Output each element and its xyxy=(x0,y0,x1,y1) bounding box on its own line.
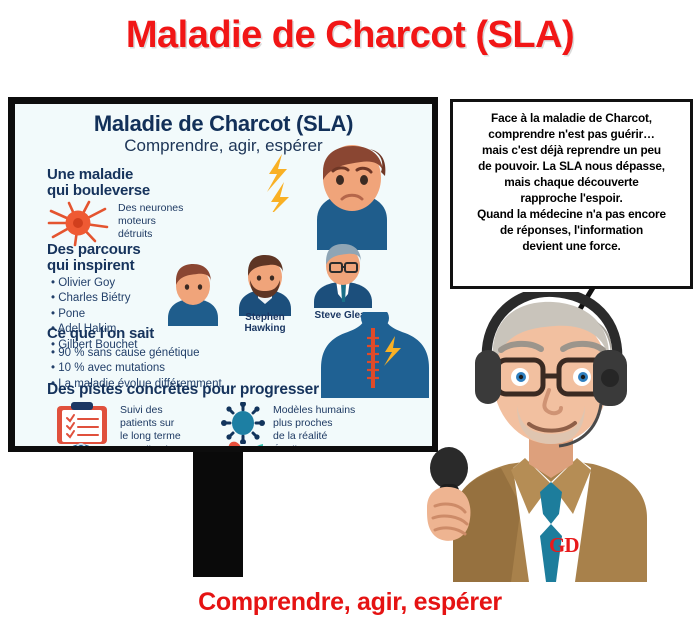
bubble-line: Quand la médecine n'a pas encore xyxy=(459,206,684,222)
clipboard-icon xyxy=(55,402,109,446)
section-4-heading: Des pistes concrètes pour progresser xyxy=(47,382,319,399)
infographic-title: Maladie de Charcot (SLA) xyxy=(15,111,432,137)
infographic-panel: Maladie de Charcot (SLA) Comprendre, agi… xyxy=(15,104,432,446)
section-2-heading: Des parcours qui inspirent xyxy=(47,242,140,274)
track-2-label: Modèles humains plus proches de la réali… xyxy=(273,404,355,442)
spine-torso-illustration xyxy=(315,312,432,402)
bubble-line: rapproche l'espoir. xyxy=(459,190,684,206)
page-title: Maladie de Charcot (SLA) xyxy=(0,14,700,57)
watermark-gd: GD xyxy=(549,533,579,558)
page-caption: Comprendre, agir, espérer xyxy=(0,588,700,617)
plant-icon xyxy=(221,440,267,446)
bubble-line: mais c'est déjà reprendre un peu xyxy=(459,142,684,158)
portrait-illustration-a xyxy=(162,262,224,326)
globe-icon xyxy=(55,442,107,446)
bubble-line: de pouvoir. La SLA nous dépasse, xyxy=(459,158,684,174)
list-item: Charles Biétry xyxy=(51,291,138,306)
neuron-icon xyxy=(45,199,111,247)
portrait-illustration-steve-gleason xyxy=(310,244,376,308)
section-1-heading: Une maladie qui bouleverse xyxy=(47,167,150,199)
virus-cell-icon xyxy=(221,402,265,444)
bubble-line: mais chaque découverte xyxy=(459,174,684,190)
bubble-line: comprendre n'est pas guérir… xyxy=(459,126,684,142)
screenshot-root: Maladie de Charcot (SLA) Maladie de Char… xyxy=(0,0,700,622)
bubble-line: Face à la maladie de Charcot, xyxy=(459,110,684,126)
track-1-label: Suivi des patients sur le long terme xyxy=(120,404,181,442)
speech-bubble: Face à la maladie de Charcot, comprendre… xyxy=(450,99,693,289)
billboard-stand xyxy=(193,452,243,577)
bubble-line: devient une force. xyxy=(459,238,684,254)
track-4-label: Étudier l'environnement xyxy=(273,444,347,446)
track-3-label: Coordination internationale xyxy=(120,444,183,446)
list-item: 90 % sans cause génétique xyxy=(51,346,222,361)
billboard-frame: Maladie de Charcot (SLA) Comprendre, agi… xyxy=(8,97,438,452)
bubble-line: de réponses, l'information xyxy=(459,222,684,238)
list-item: 10 % avec mutations xyxy=(51,361,222,376)
portrait-illustration-stephen-hawking xyxy=(234,254,296,316)
portrait-label-stephen-hawking: Stephen Hawking xyxy=(226,312,304,334)
sad-person-illustration xyxy=(295,142,410,250)
lightning-bolt-icon xyxy=(265,152,295,212)
section-3-heading: Ce que l'on sait xyxy=(47,326,154,342)
list-item: Olivier Goy xyxy=(51,276,138,291)
list-item: Pone xyxy=(51,307,138,322)
neuron-label: Des neurones moteurs détruits xyxy=(118,202,183,240)
